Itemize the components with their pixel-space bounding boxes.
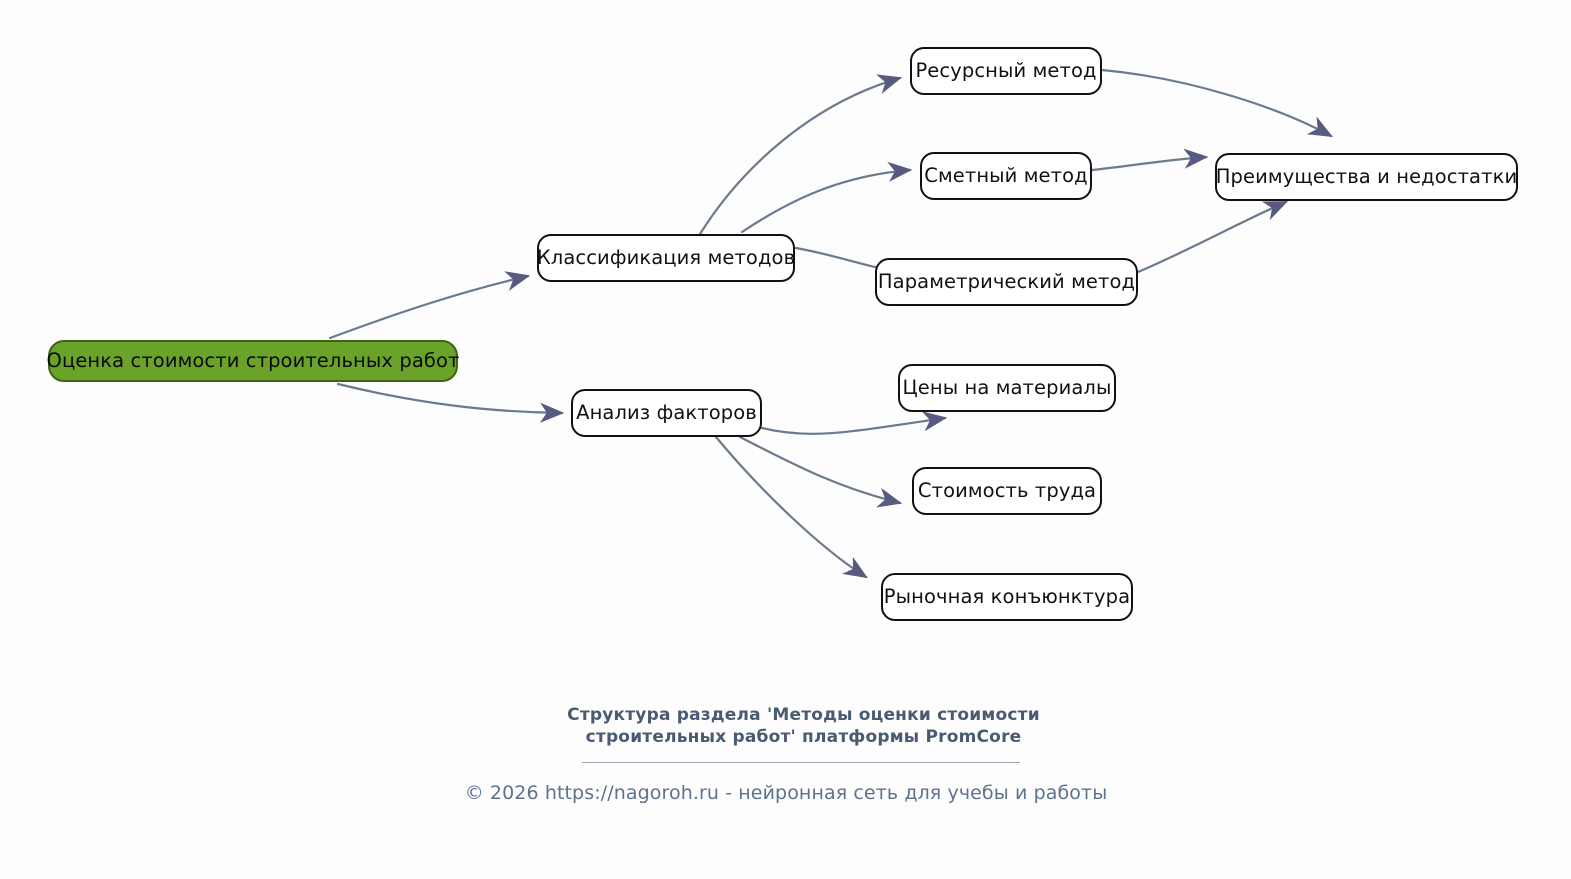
edge-class-to-resource xyxy=(700,78,900,234)
node-root[interactable]: Оценка стоимости строительных работ xyxy=(48,340,458,382)
edge-root-to-class xyxy=(330,276,528,338)
mindmap-canvas: Оценка стоимости строительных работКласс… xyxy=(0,0,1571,879)
edge-root-to-factors xyxy=(338,384,562,413)
node-label: Стоимость труда xyxy=(918,481,1096,501)
node-label: Преимущества и недостатки xyxy=(1216,167,1517,187)
caption-line-1: Структура раздела 'Методы оценки стоимос… xyxy=(566,705,1041,727)
caption-line-2: строительных работ' платформы PromCore xyxy=(566,727,1041,749)
node-label: Цены на материалы xyxy=(903,378,1112,398)
diagram-caption: Структура раздела 'Методы оценки стоимос… xyxy=(566,705,1041,749)
node-label: Оценка стоимости строительных работ xyxy=(47,351,460,371)
node-label: Рыночная конъюнктура xyxy=(884,587,1130,607)
node-labour[interactable]: Стоимость труда xyxy=(912,467,1102,515)
footer-credit: © 2026 https://nagoroh.ru - нейронная се… xyxy=(386,782,1186,805)
node-materials[interactable]: Цены на материалы xyxy=(898,364,1116,412)
node-market[interactable]: Рыночная конъюнктура xyxy=(881,573,1133,621)
caption-divider xyxy=(582,762,1020,763)
node-estimate[interactable]: Сметный метод xyxy=(920,152,1092,200)
edge-resource-to-prosncons xyxy=(1102,70,1331,136)
node-label: Ресурсный метод xyxy=(915,61,1096,81)
edge-estimate-to-prosncons xyxy=(1092,157,1206,170)
edge-factors-to-market xyxy=(716,437,866,577)
edge-parametric-to-prosncons xyxy=(1138,202,1286,272)
edge-factors-to-labour xyxy=(740,437,900,503)
node-resource[interactable]: Ресурсный метод xyxy=(910,47,1102,95)
edge-factors-to-materials xyxy=(762,418,945,434)
node-label: Сметный метод xyxy=(924,166,1087,186)
edge-class-to-estimate xyxy=(742,170,910,232)
node-parametric[interactable]: Параметрический метод xyxy=(875,258,1138,306)
node-label: Анализ факторов xyxy=(576,403,757,423)
node-factors[interactable]: Анализ факторов xyxy=(571,389,762,437)
footer-text: © 2026 https://nagoroh.ru - нейронная се… xyxy=(465,782,1108,804)
node-prosncons[interactable]: Преимущества и недостатки xyxy=(1215,153,1518,201)
node-class[interactable]: Классификация методов xyxy=(537,234,795,282)
edge-group xyxy=(330,70,1331,577)
node-label: Классификация методов xyxy=(537,248,795,268)
node-label: Параметрический метод xyxy=(878,272,1135,292)
